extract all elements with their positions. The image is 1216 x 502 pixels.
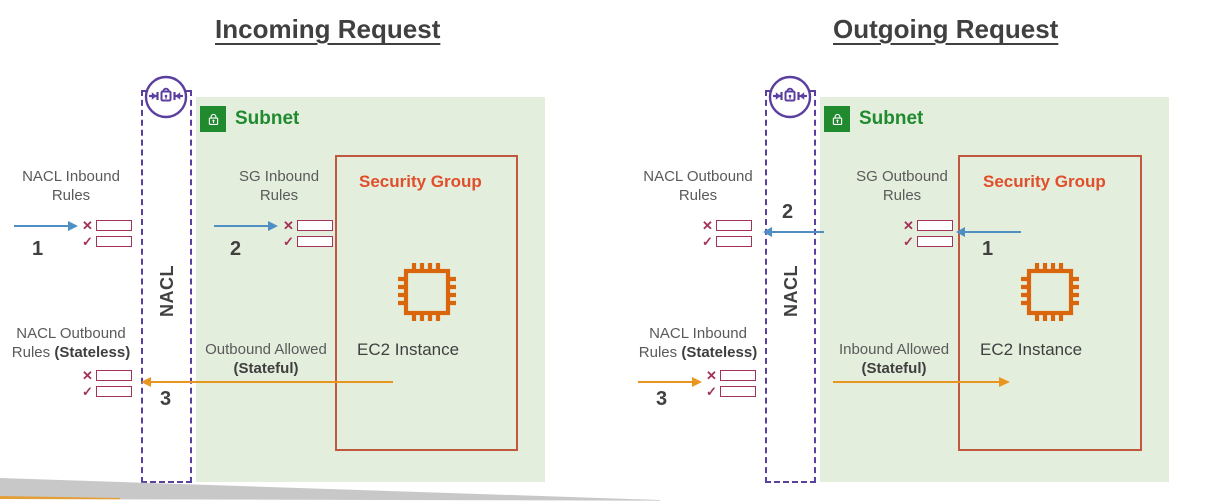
rule-bar [917, 220, 953, 231]
sg-inbound-rules-label-left: SG Inbound Rules [218, 168, 340, 206]
rule-bar [720, 386, 756, 397]
outbound-allowed-caption-left: Outbound Allowed (Stateful) [196, 341, 336, 379]
panel-title-left: Incoming Request [215, 14, 440, 45]
rule-bar [96, 220, 132, 231]
nacl-outbound-rules-line1: NACL Outbound [16, 325, 126, 342]
rule-bar [297, 236, 333, 247]
step-number-3-right: 3 [656, 388, 667, 411]
rule-row-deny: ✕ [82, 219, 132, 232]
allow-icon: ✓ [706, 385, 717, 398]
sg-outbound-rules-label-right: SG Outbound Rules [838, 168, 966, 206]
nacl-vertical-label-right: NACL [781, 265, 802, 317]
panel-title-right: Outgoing Request [833, 14, 1058, 45]
rule-bar [720, 370, 756, 381]
nacl-outbound-rule-chips-left: ✕ ✓ [82, 369, 132, 398]
rule-bar [297, 220, 333, 231]
ec2-instance-label-left: EC2 Instance [357, 340, 459, 360]
sg-outbound-rules-line2: Rules [883, 187, 921, 204]
inbound-allowed-caption-right: Inbound Allowed (Stateful) [824, 341, 964, 379]
step-number-1-left: 1 [32, 238, 43, 261]
bottom-banner [0, 462, 1216, 502]
nacl-outbound-rules-line1: NACL Outbound [643, 168, 753, 185]
deny-icon: ✕ [706, 369, 717, 382]
rule-row-allow: ✓ [283, 235, 333, 248]
sg-outbound-rule-chips-right: ✕ ✓ [903, 219, 953, 248]
nacl-outbound-stateless-tag: (Stateless) [54, 344, 130, 361]
subnet-label-left: Subnet [235, 108, 299, 130]
rule-bar [917, 236, 953, 247]
step3-arrow-right [638, 375, 704, 394]
security-group-label-left: Security Group [359, 172, 482, 192]
diagram-canvas: Security Group NACL Su [0, 0, 1216, 502]
nacl-outbound-rule-chips-right: ✕ ✓ [702, 219, 752, 248]
rule-row-deny: ✕ [82, 369, 132, 382]
allow-icon: ✓ [82, 385, 93, 398]
lock-icon-right [824, 106, 850, 132]
deny-icon: ✕ [903, 219, 914, 232]
step-number-1-right: 1 [982, 238, 993, 261]
step2-arrow-left [214, 218, 280, 239]
rule-row-allow: ✓ [702, 235, 752, 248]
stateful-flow-arrow-right [833, 375, 1013, 394]
rule-row-allow: ✓ [706, 385, 756, 398]
rule-bar [96, 386, 132, 397]
step-number-2-left: 2 [230, 238, 241, 261]
nacl-inbound-rules-line1: NACL Inbound [22, 168, 120, 185]
step3-arrow-left [139, 375, 393, 394]
allow-icon: ✓ [702, 235, 713, 248]
rule-bar [716, 236, 752, 247]
nacl-inbound-stateless-tag: (Stateless) [681, 344, 757, 361]
allow-icon: ✓ [82, 235, 93, 248]
sg-outbound-rules-line1: SG Outbound [856, 168, 948, 185]
nacl-inbound-rules-label-right: NACL Inbound Rules (Stateless) [628, 325, 768, 363]
flow-caption-line1: Outbound Allowed [205, 341, 327, 358]
flow-caption-line1: Inbound Allowed [839, 341, 949, 358]
subnet-label-right: Subnet [859, 108, 923, 130]
rule-bar [96, 236, 132, 247]
nacl-inbound-rules-label-left: NACL Inbound Rules [6, 168, 136, 206]
nacl-gateway-icon-left [143, 74, 189, 120]
rule-bar [96, 370, 132, 381]
sg-inbound-rule-chips-left: ✕ ✓ [283, 219, 333, 248]
lock-icon-left [200, 106, 226, 132]
nacl-outbound-rules-label-left: NACL Outbound Rules (Stateless) [4, 325, 138, 363]
nacl-inbound-rules-line2: Rules [52, 187, 90, 204]
nacl-gateway-icon-right [767, 74, 813, 120]
nacl-outbound-rules-label-right: NACL Outbound Rules [630, 168, 766, 206]
nacl-inbound-rule-chips-right: ✕ ✓ [706, 369, 756, 398]
ec2-chip-icon-right [1016, 258, 1084, 331]
step1-arrow-left [14, 218, 80, 239]
nacl-outbound-rules-line2-plain: Rules [12, 344, 55, 361]
nacl-vertical-label-left: NACL [157, 265, 178, 317]
ec2-instance-label-right: EC2 Instance [980, 340, 1082, 360]
subnet-tag-left: Subnet [200, 106, 299, 132]
nacl-inbound-rules-line1: NACL Inbound [649, 325, 747, 342]
security-group-label-right: Security Group [983, 172, 1106, 192]
rule-row-deny: ✕ [702, 219, 752, 232]
step-number-3-left: 3 [160, 388, 171, 411]
allow-icon: ✓ [283, 235, 294, 248]
ec2-chip-icon-left [393, 258, 461, 331]
rule-bar [716, 220, 752, 231]
nacl-inbound-rule-chips-left: ✕ ✓ [82, 219, 132, 248]
deny-icon: ✕ [82, 369, 93, 382]
rule-row-allow: ✓ [82, 385, 132, 398]
nacl-inbound-rules-line2-plain: Rules [639, 344, 682, 361]
nacl-outbound-rules-line2: Rules [679, 187, 717, 204]
rule-row-deny: ✕ [706, 369, 756, 382]
step2-arrow-right [760, 225, 826, 244]
sg-inbound-rules-line1: SG Inbound [239, 168, 319, 185]
allow-icon: ✓ [903, 235, 914, 248]
step-number-2-right: 2 [782, 201, 793, 224]
deny-icon: ✕ [702, 219, 713, 232]
rule-row-deny: ✕ [283, 219, 333, 232]
rule-row-allow: ✓ [903, 235, 953, 248]
rule-row-deny: ✕ [903, 219, 953, 232]
deny-icon: ✕ [283, 219, 294, 232]
sg-inbound-rules-line2: Rules [260, 187, 298, 204]
rule-row-allow: ✓ [82, 235, 132, 248]
subnet-tag-right: Subnet [824, 106, 923, 132]
deny-icon: ✕ [82, 219, 93, 232]
